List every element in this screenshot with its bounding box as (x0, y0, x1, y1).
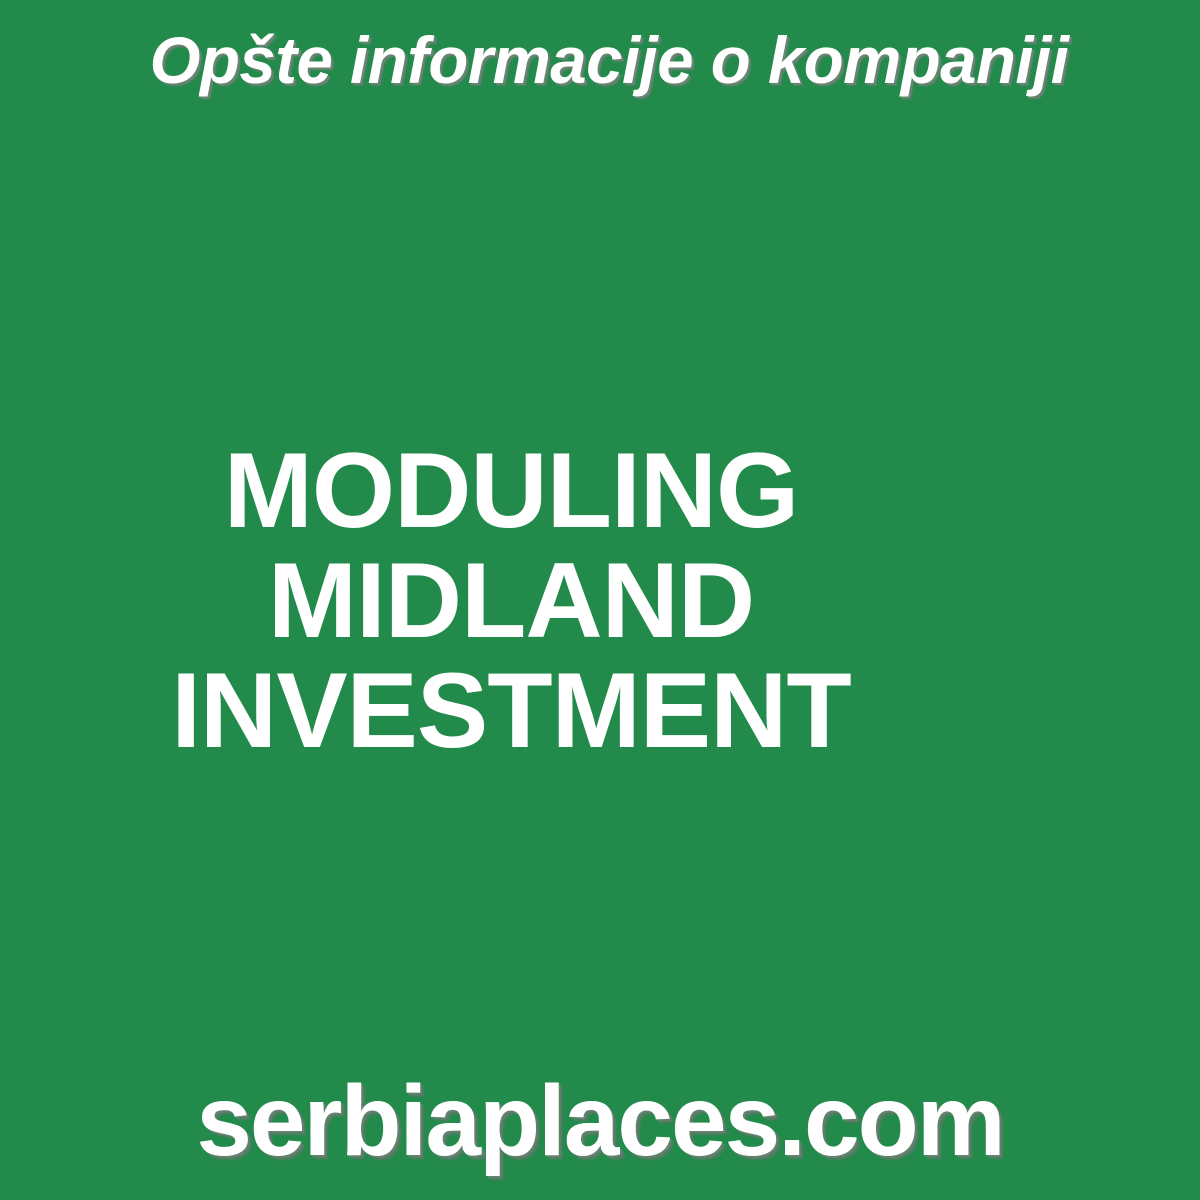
page-title: Opšte informacije o kompaniji (150, 27, 1069, 93)
company-info-card: Opšte informacije o kompaniji MODULING M… (0, 0, 1200, 1200)
company-name-container: MODULING MIDLAND INVESTMENT (0, 0, 1200, 1200)
header-band: Opšte informacije o kompaniji (0, 0, 1200, 120)
company-name: MODULING MIDLAND INVESTMENT (6, 435, 1016, 765)
site-watermark: serbiaplaces.com (196, 1071, 1003, 1171)
footer-band: serbiaplaces.com (0, 1050, 1200, 1200)
